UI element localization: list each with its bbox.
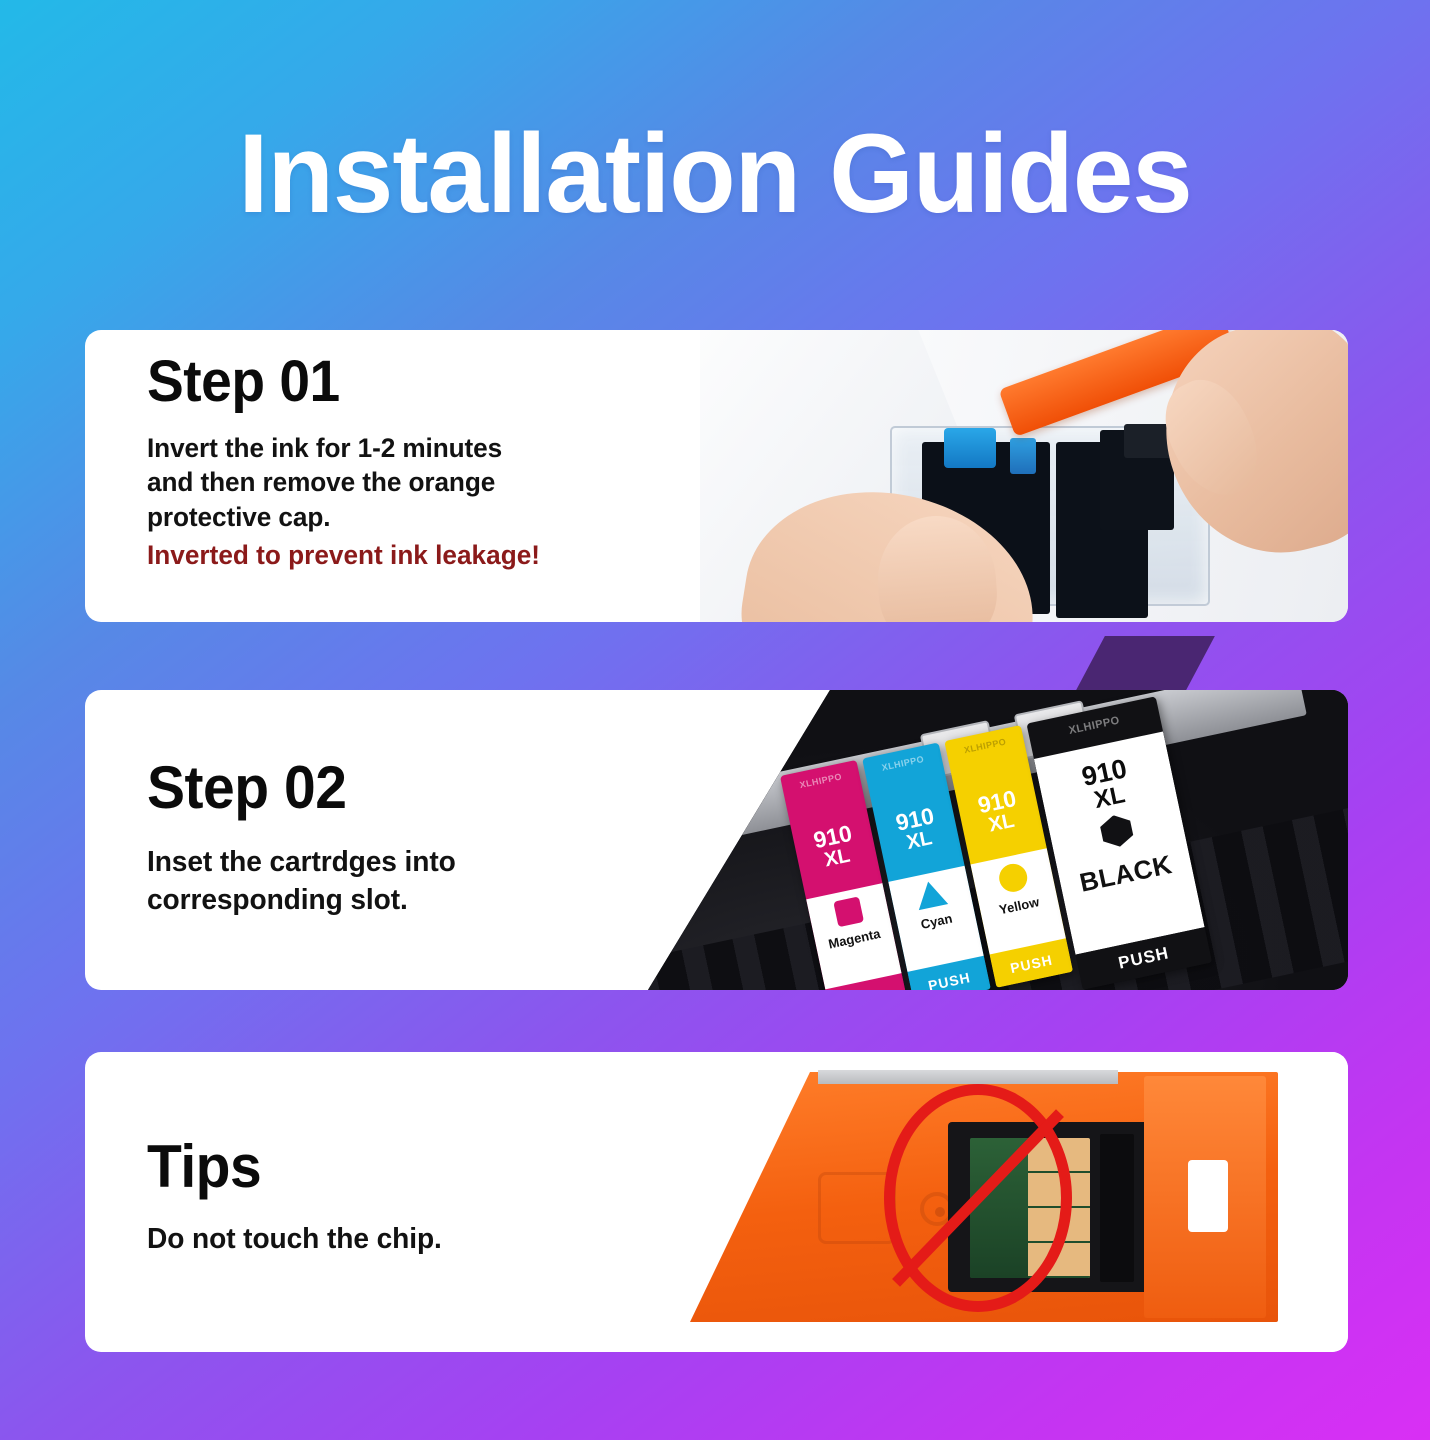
cyan-swatch-icon [913, 879, 948, 911]
blue-nozzle-secondary-icon [1010, 438, 1036, 474]
photo-corner-overhang [1075, 636, 1215, 692]
page-title: Installation Guides [21, 118, 1408, 230]
tips-text-block: Tips Do not touch the chip. [147, 1052, 767, 1352]
cartridge-color-panel-yellow: Yellow [970, 848, 1065, 954]
cartridge-colorname-black: BLACK [1077, 849, 1175, 899]
cartridge-brand-label-black: XLHIPPO [1068, 714, 1121, 737]
tips-body: Do not touch the chip. [147, 1221, 748, 1258]
cartridge-brand-label-cyan: XLHIPPO [881, 754, 925, 773]
prohibition-icon [884, 1084, 1072, 1312]
cartridge-colorname-magenta: Magenta [827, 926, 882, 952]
cartridge-size-magenta: XL [823, 845, 852, 870]
step-01-text-block: Step 01 Invert the ink for 1-2 minutes a… [147, 330, 767, 622]
cartridge-size-cyan: XL [905, 828, 934, 853]
card-tips: Tips Do not touch the chip. [85, 1052, 1348, 1352]
yellow-swatch-icon [997, 861, 1030, 894]
card-step-01: Step 01 Invert the ink for 1-2 minutes a… [85, 330, 1348, 622]
cap-top-strip [818, 1070, 1118, 1084]
step-02-text-block: Step 02 Inset the cartrdges into corresp… [147, 690, 767, 990]
cartridge-size-black: XL [1092, 783, 1127, 813]
magenta-swatch-icon [833, 896, 864, 927]
cartridge-colorname-yellow: Yellow [998, 894, 1041, 917]
cartridge-brand-label-yellow: XLHIPPO [963, 736, 1007, 755]
cap-right-notch [1188, 1160, 1228, 1232]
step-02-body: Inset the cartrdges into corresponding s… [147, 844, 748, 919]
step-01-photo [700, 330, 1348, 622]
step-02-heading: Step 02 [147, 757, 736, 818]
cartridge-colorname-cyan: Cyan [919, 911, 953, 932]
step-01-heading: Step 01 [147, 352, 736, 411]
prohibition-slash-icon [892, 1109, 1064, 1286]
cartridge-brand-label: XLHIPPO [799, 771, 843, 790]
cartridge-size-yellow: XL [987, 810, 1016, 835]
blue-nozzle-icon [944, 428, 996, 468]
cap-slot [1100, 1134, 1134, 1282]
step-01-body: Invert the ink for 1-2 minutes and then … [147, 431, 748, 534]
tips-heading: Tips [147, 1136, 736, 1197]
card-step-02: XLHIPPO 910 XL Magenta PUSH XLHIPPO 910 … [85, 690, 1348, 990]
cartridge-color-panel-cyan: Cyan [888, 866, 983, 972]
black-swatch-icon [1097, 812, 1137, 850]
step-01-warning: Inverted to prevent ink leakage! [147, 538, 748, 573]
